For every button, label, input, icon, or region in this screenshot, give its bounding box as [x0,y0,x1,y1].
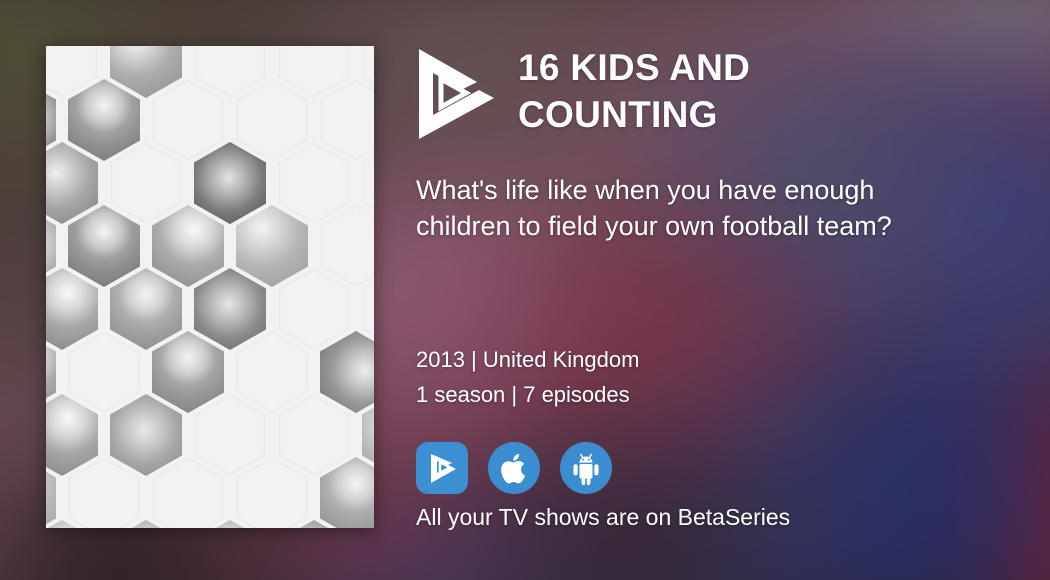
poster-hexagon-outline [323,208,374,284]
betaseries-app-icon[interactable] [416,442,468,494]
apple-icon[interactable] [488,442,540,494]
poster-hexagon-cell [236,79,308,161]
poster-hexagon-cell [278,142,350,224]
page-title: 16 KIDS AND COUNTING [518,44,750,139]
poster-hexagon-cell [194,142,266,224]
title-row: 16 KIDS AND COUNTING [416,44,750,142]
poster-hexagon-cell [278,394,350,476]
poster-hexagon-outline [281,145,347,221]
poster-hexagon-cell [236,205,308,287]
poster-hexagon-outline [71,334,137,410]
poster-placeholder-image [46,46,374,528]
android-icon[interactable] [560,442,612,494]
poster-hexagon-cell [68,79,140,161]
poster-hexagon-outline [281,46,347,95]
poster-hexagon-outline [197,397,263,473]
poster-hexagon-cell [68,331,140,413]
poster-hexagon-outline [197,46,263,95]
poster-hexagon-cell [68,457,140,528]
poster-hexagon-cell [46,394,98,476]
poster-hexagon-outline [239,460,305,528]
poster-hexagon-cell [236,457,308,528]
tagline: All your TV shows are on BetaSeries [416,504,790,531]
poster-hexagon-cell [278,268,350,350]
meta-year-country: 2013 | United Kingdom [416,345,639,375]
content-column: 16 KIDS AND COUNTING What's life like wh… [416,0,1050,580]
poster-hexagon-cell [110,142,182,224]
poster-hexagon-cell [152,457,224,528]
poster-hexagon-outline [365,145,374,221]
poster-hexagon-outline [239,82,305,158]
poster-hexagon-outline [365,271,374,347]
show-metadata: 2013 | United Kingdom 1 season | 7 episo… [416,345,639,414]
app-store-badges [416,442,612,494]
poster-hexagon-cell [320,331,374,413]
poster-hexagon-cell [320,205,374,287]
poster-hexagon-outline [155,460,221,528]
poster-hexagon-cell [110,268,182,350]
betaseries-play-logo-icon [416,46,500,142]
poster-hexagon-outline [155,82,221,158]
meta-seasons-episodes: 1 season | 7 episodes [416,380,639,410]
poster-hexagon-cell [152,79,224,161]
show-synopsis: What's life like when you have enough ch… [416,173,968,245]
poster-hexagon-cell [152,331,224,413]
show-poster[interactable] [46,46,374,528]
poster-hexagon-cell [46,142,98,224]
poster-hexagon-outline [281,397,347,473]
poster-hexagon-outline [113,145,179,221]
poster-hexagon-cell [194,394,266,476]
hexagon-thumbnail-grid [46,46,374,528]
poster-hexagon-cell [46,268,98,350]
poster-hexagon-cell [152,205,224,287]
poster-hexagon-outline [281,271,347,347]
poster-hexagon-cell [110,394,182,476]
poster-hexagon-outline [71,460,137,528]
poster-hexagon-outline [46,46,95,95]
poster-hexagon-outline [323,82,374,158]
share-card: 16 KIDS AND COUNTING What's life like wh… [0,0,1050,580]
poster-hexagon-cell [320,79,374,161]
poster-hexagon-cell [236,331,308,413]
poster-hexagon-outline [239,334,305,410]
poster-hexagon-cell [194,268,266,350]
poster-hexagon-cell [68,205,140,287]
